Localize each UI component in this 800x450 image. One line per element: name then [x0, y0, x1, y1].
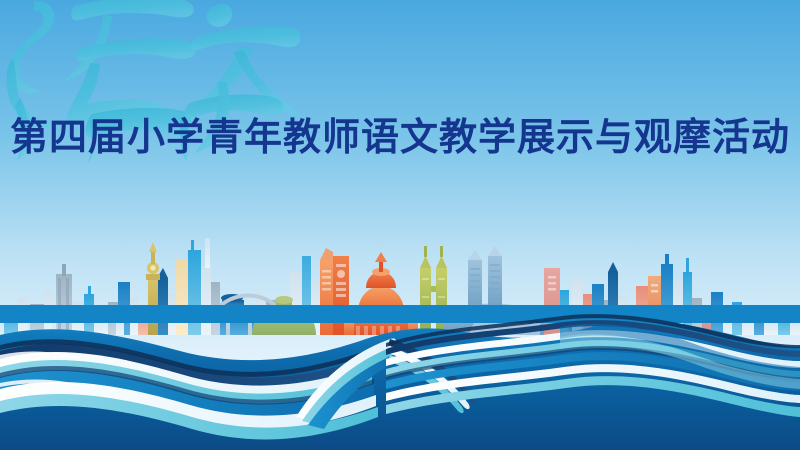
wave-water — [0, 305, 800, 450]
poster-canvas: 第四届小学青年教师语文教学展示与观摩活动 — [0, 0, 800, 450]
poster-title: 第四届小学青年教师语文教学展示与观摩活动 — [0, 118, 800, 160]
